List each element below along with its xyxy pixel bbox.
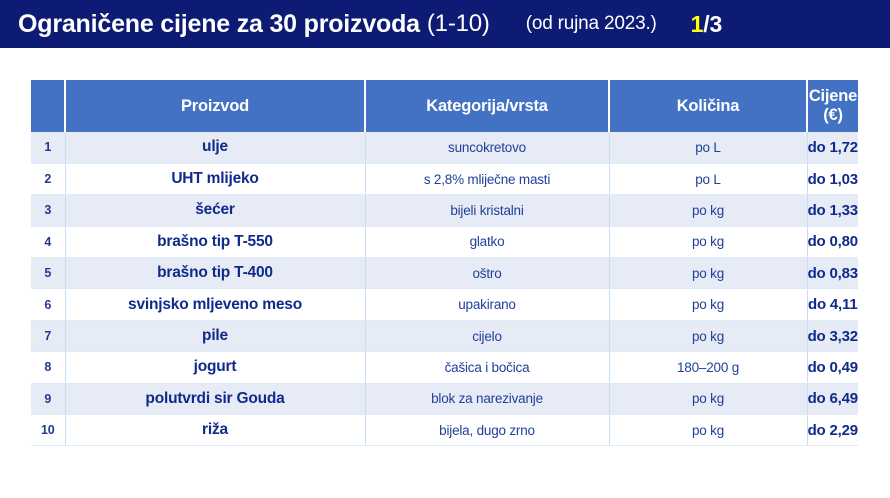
cell-index: 9 [31,383,65,414]
cell-quantity: po L [609,132,807,163]
cell-index: 6 [31,289,65,320]
table-row: 9polutvrdi sir Goudablok za narezivanjep… [31,383,858,414]
table-row: 7pilecijelopo kgdo 3,32 [31,320,858,351]
page-title: Ograničene cijene za 30 proizvoda [18,10,420,39]
cell-index: 1 [31,132,65,163]
page-indicator-current: 1 [691,11,704,37]
cell-category: upakirano [365,289,609,320]
table-row: 2UHT mlijekos 2,8% mliječne mastipo Ldo … [31,163,858,194]
table-row: 5brašno tip T-400oštropo kgdo 0,83 [31,258,858,289]
table-row: 1uljesuncokretovopo Ldo 1,72 [31,132,858,163]
column-header-category: Kategorija/vrsta [365,80,609,132]
title-date-label: (od rujna 2023.) [526,13,657,35]
cell-price: do 1,33 [807,195,858,226]
cell-price: do 0,80 [807,226,858,257]
cell-category: bijela, dugo zrno [365,415,609,446]
cell-quantity: 180–200 g [609,352,807,383]
cell-category: bijeli kristalni [365,195,609,226]
cell-index: 10 [31,415,65,446]
title-banner: Ograničene cijene za 30 proizvoda (1-10)… [0,0,890,48]
cell-price: do 6,49 [807,383,858,414]
cell-product: pile [65,320,365,351]
table-row: 10rižabijela, dugo zrnopo kgdo 2,29 [31,415,858,446]
cell-price: do 2,29 [807,415,858,446]
column-header-product: Proizvod [65,80,365,132]
column-header-price: Cijene (€) [807,80,858,132]
cell-price: do 0,83 [807,258,858,289]
cell-product: jogurt [65,352,365,383]
cell-category: s 2,8% mliječne masti [365,163,609,194]
column-header-quantity: Količina [609,80,807,132]
cell-price: do 4,11 [807,289,858,320]
cell-quantity: po kg [609,289,807,320]
cell-index: 7 [31,320,65,351]
cell-quantity: po kg [609,320,807,351]
slide-page: Ograničene cijene za 30 proizvoda (1-10)… [0,0,890,498]
cell-index: 3 [31,195,65,226]
cell-quantity: po kg [609,383,807,414]
cell-product: polutvrdi sir Gouda [65,383,365,414]
cell-index: 8 [31,352,65,383]
cell-category: cijelo [365,320,609,351]
cell-price: do 1,72 [807,132,858,163]
cell-category: oštro [365,258,609,289]
table-row: 4brašno tip T-550glatkopo kgdo 0,80 [31,226,858,257]
cell-quantity: po kg [609,226,807,257]
price-table: Proizvod Kategorija/vrsta Količina Cijen… [31,80,858,446]
cell-quantity: po L [609,163,807,194]
cell-product: brašno tip T-400 [65,258,365,289]
cell-category: čašica i bočica [365,352,609,383]
column-header-index [31,80,65,132]
table-header: Proizvod Kategorija/vrsta Količina Cijen… [31,80,858,132]
price-table-container: Proizvod Kategorija/vrsta Količina Cijen… [31,80,858,446]
cell-product: šećer [65,195,365,226]
cell-quantity: po kg [609,195,807,226]
cell-index: 5 [31,258,65,289]
table-row: 8jogurtčašica i bočica180–200 gdo 0,49 [31,352,858,383]
cell-product: svinjsko mljeveno meso [65,289,365,320]
cell-product: ulje [65,132,365,163]
cell-product: UHT mlijeko [65,163,365,194]
page-indicator-total: /3 [703,11,722,37]
page-indicator: 1/3 [691,11,722,38]
cell-index: 4 [31,226,65,257]
cell-product: brašno tip T-550 [65,226,365,257]
cell-category: blok za narezivanje [365,383,609,414]
cell-price: do 3,32 [807,320,858,351]
cell-category: glatko [365,226,609,257]
table-header-row: Proizvod Kategorija/vrsta Količina Cijen… [31,80,858,132]
table-row: 6svinjsko mljeveno mesoupakiranopo kgdo … [31,289,858,320]
title-range-label: (1-10) [427,10,490,38]
cell-product: riža [65,415,365,446]
table-body: 1uljesuncokretovopo Ldo 1,722UHT mlijeko… [31,132,858,446]
cell-quantity: po kg [609,258,807,289]
table-row: 3šećerbijeli kristalnipo kgdo 1,33 [31,195,858,226]
cell-quantity: po kg [609,415,807,446]
cell-price: do 1,03 [807,163,858,194]
cell-price: do 0,49 [807,352,858,383]
cell-index: 2 [31,163,65,194]
cell-category: suncokretovo [365,132,609,163]
